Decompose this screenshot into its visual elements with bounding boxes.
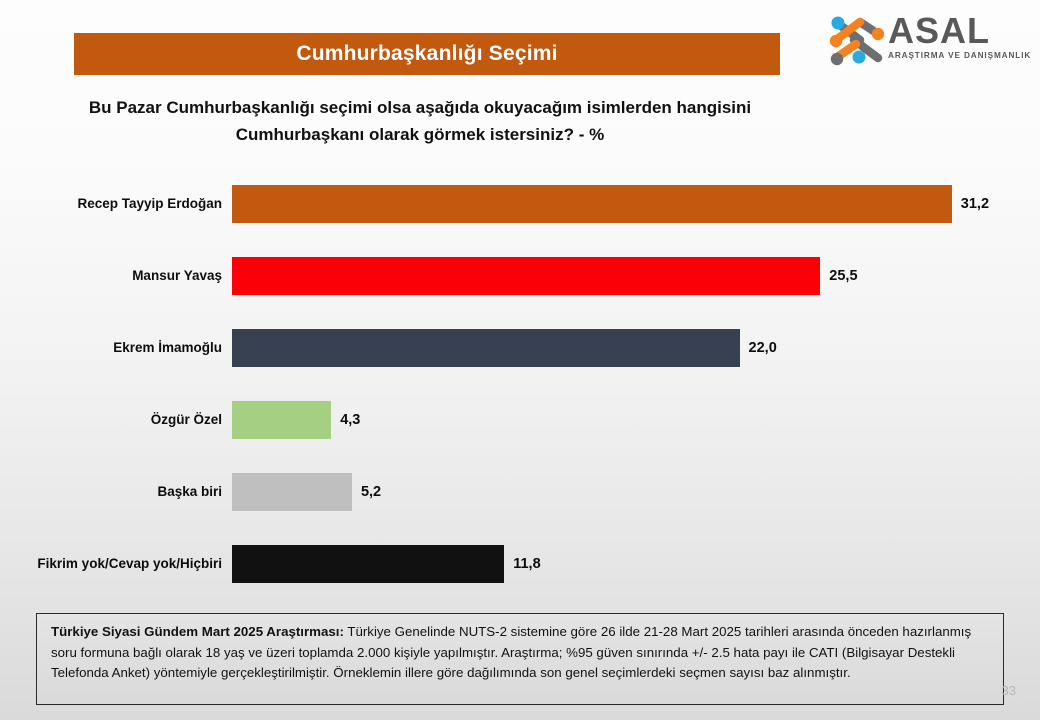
bar-track: 5,2 (232, 473, 381, 511)
bar-track: 25,5 (232, 257, 858, 295)
bar (232, 329, 740, 367)
bar-value-label: 5,2 (361, 484, 381, 500)
logo-tagline: ARAŞTIRMA VE DANIŞMANLIK (888, 51, 1024, 61)
bar-row: Fikrim yok/Cevap yok/Hiçbiri11,8 (0, 528, 1040, 600)
bar-row: Ekrem İmamoğlu22,0 (0, 312, 1040, 384)
asal-logo: ASAL ARAŞTIRMA VE DANIŞMANLIK (826, 10, 1026, 72)
bar-category-label: Başka biri (20, 483, 222, 501)
bar-category-label: Fikrim yok/Cevap yok/Hiçbiri (20, 555, 222, 573)
bar-row: Mansur Yavaş25,5 (0, 240, 1040, 312)
slide-title-banner: Cumhurbaşkanlığı Seçimi (74, 33, 780, 75)
bar-row: Başka biri5,2 (0, 456, 1040, 528)
logo-wordmark: ASAL (888, 12, 1024, 50)
bar (232, 257, 820, 295)
survey-question: Bu Pazar Cumhurbaşkanlığı seçimi olsa aş… (70, 94, 770, 148)
horizontal-bar-chart: Recep Tayyip Erdoğan31,2Mansur Yavaş25,5… (0, 168, 1040, 604)
bar-value-label: 31,2 (961, 196, 989, 212)
bar-value-label: 11,8 (513, 556, 540, 572)
methodology-note: Türkiye Siyasi Gündem Mart 2025 Araştırm… (36, 613, 1004, 705)
bar-category-label: Mansur Yavaş (20, 267, 222, 285)
methodology-note-title: Türkiye Siyasi Gündem Mart 2025 Araştırm… (51, 624, 344, 639)
logo-text: ASAL ARAŞTIRMA VE DANIŞMANLIK (888, 12, 1024, 61)
page-title: Cumhurbaşkanlığı Seçimi (296, 42, 557, 66)
bar-category-label: Recep Tayyip Erdoğan (20, 195, 222, 213)
bar-row: Recep Tayyip Erdoğan31,2 (0, 168, 1040, 240)
slide-header: Cumhurbaşkanlığı Seçimi (0, 0, 1040, 88)
page-number: 33 (1002, 683, 1016, 698)
bar (232, 401, 331, 439)
bar-category-label: Özgür Özel (20, 411, 222, 429)
bar (232, 473, 352, 511)
bar-track: 4,3 (232, 401, 360, 439)
bar-track: 31,2 (232, 185, 989, 223)
bar (232, 185, 952, 223)
bar-category-label: Ekrem İmamoğlu (20, 339, 222, 357)
bar-value-label: 25,5 (829, 268, 857, 284)
bar-row: Özgür Özel4,3 (0, 384, 1040, 456)
logo-mark-icon (826, 14, 888, 66)
bar-value-label: 22,0 (749, 340, 777, 356)
bar-track: 11,8 (232, 545, 541, 583)
bar-value-label: 4,3 (340, 412, 360, 428)
bar-track: 22,0 (232, 329, 777, 367)
bar (232, 545, 504, 583)
